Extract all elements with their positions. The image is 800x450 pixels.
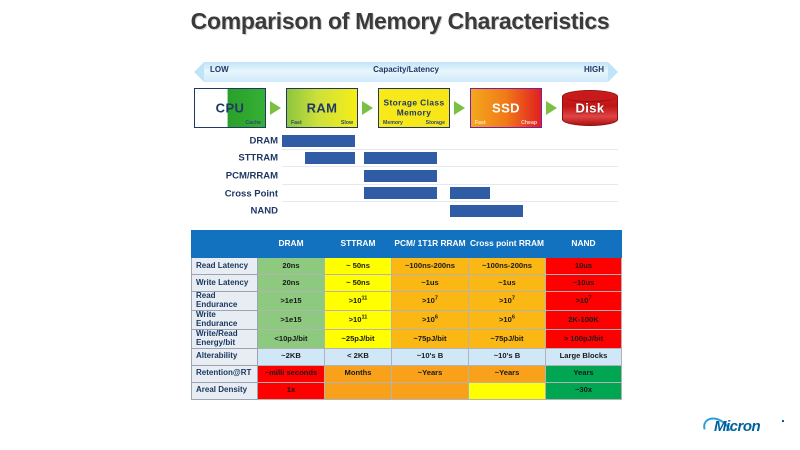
hierarchy-stage-ssd[interactable]: SSD Fast Cheap (470, 88, 542, 128)
table-header-row: DRAM STTRAM PCM/ 1T1R RRAM Cross point R… (192, 231, 622, 258)
cell-retention-rt-dram: ~milli seconds (258, 365, 325, 382)
cell-write-latency-sttram: ~ 50ns (325, 275, 392, 292)
cell-read-endurance-cross-point-rram: >107 (469, 292, 546, 311)
technology-range-chart: DRAM STTRAM PCM/RRAM Cross Point NAND (194, 132, 618, 220)
column-header-sttram: STTRAM (325, 231, 392, 258)
range-label-sttram: STTRAM (194, 153, 278, 164)
range-bar (450, 205, 523, 217)
column-header-dram: DRAM (258, 231, 325, 258)
table-body: Read Latency20ns~ 50ns~100ns-200ns~100ns… (192, 258, 622, 400)
row-header-alterability: Alterability (192, 348, 258, 365)
cell-write-read-energy-bit-dram: <10pJ/bit (258, 329, 325, 348)
column-header-nand: NAND (546, 231, 622, 258)
cell-retention-rt-nand: Years (546, 365, 622, 382)
micron-wordmark: Micron (714, 418, 760, 435)
chevron-right-icon-3 (454, 101, 465, 115)
cell-read-endurance-nand: >107 (546, 292, 622, 311)
range-bar (364, 187, 437, 199)
cell-write-endurance-pcm-1t1r-rram: >106 (392, 310, 469, 329)
cell-read-endurance-sttram: >1011 (325, 292, 392, 311)
range-row-pcm-rram: PCM/RRAM (194, 167, 618, 185)
row-header-areal-density: Areal Density (192, 382, 258, 399)
range-track-cross-point (282, 185, 618, 203)
table-row: Read Endurance>1e15>1011>107>107>107 (192, 292, 622, 311)
range-row-cross-point: Cross Point (194, 185, 618, 203)
range-track-sttram (282, 150, 618, 168)
cell-alterability-nand: Large Blocks (546, 348, 622, 365)
page-title: Comparison of Memory Characteristics (0, 8, 800, 35)
stage-label-cpu: CPU (195, 101, 265, 116)
cell-areal-density-cross-point-rram (469, 382, 546, 399)
row-header-write-latency: Write Latency (192, 275, 258, 292)
range-bar (450, 187, 490, 199)
cell-alterability-pcm-1t1r-rram: ~10's B (392, 348, 469, 365)
hierarchy-stage-disk[interactable]: Disk (562, 88, 618, 128)
range-bar (282, 135, 355, 147)
cell-retention-rt-sttram: Months (325, 365, 392, 382)
range-bar (364, 170, 437, 182)
cell-alterability-sttram: < 2KB (325, 348, 392, 365)
stage-sublabel-ssd-right: Cheap (521, 120, 537, 126)
stage-label-disk: Disk (562, 101, 618, 116)
spectrum-axis-label: Capacity/Latency (194, 65, 618, 74)
range-row-nand: NAND (194, 202, 618, 220)
row-header-write-endurance: Write Endurance (192, 310, 258, 329)
hierarchy-stage-cpu[interactable]: CPU Cache (194, 88, 266, 128)
cell-read-latency-pcm-1t1r-rram: ~100ns-200ns (392, 258, 469, 275)
range-bar (305, 152, 355, 164)
memory-comparison-table: DRAM STTRAM PCM/ 1T1R RRAM Cross point R… (191, 230, 622, 400)
range-track-pcm-rram (282, 167, 618, 185)
row-header-write-read-energy-bit: Write/Read Energy/bit (192, 329, 258, 348)
cell-retention-rt-pcm-1t1r-rram: ~Years (392, 365, 469, 382)
cell-read-endurance-pcm-1t1r-rram: >107 (392, 292, 469, 311)
table-corner-cell (192, 231, 258, 258)
range-row-sttram: STTRAM (194, 150, 618, 168)
range-label-dram: DRAM (194, 135, 278, 146)
cell-write-latency-pcm-1t1r-rram: ~1us (392, 275, 469, 292)
cell-alterability-dram: ~2KB (258, 348, 325, 365)
table-row: Write Endurance>1e15>1011>106>1062K-100K (192, 310, 622, 329)
table-row: Areal Density1x~30x (192, 382, 622, 399)
table-row: Read Latency20ns~ 50ns~100ns-200ns~100ns… (192, 258, 622, 275)
cell-alterability-cross-point-rram: ~10's B (469, 348, 546, 365)
hierarchy-stage-storage-class-memory[interactable]: Storage Class Memory Memory Storage (378, 88, 450, 128)
stage-sublabel-cpu-right: Cache (245, 120, 261, 126)
cell-write-endurance-cross-point-rram: >106 (469, 310, 546, 329)
memory-hierarchy-diagram: CPU Cache RAM Fast Slow Storage Class Me… (194, 88, 618, 128)
stage-label-ram: RAM (287, 101, 357, 116)
cell-read-latency-nand: 10us (546, 258, 622, 275)
range-track-nand (282, 202, 618, 220)
chevron-right-icon-1 (270, 101, 281, 115)
cell-areal-density-nand: ~30x (546, 382, 622, 399)
column-header-cross-point: Cross point RRAM (469, 231, 546, 258)
table-row: Write Latency20ns~ 50ns~1us~1us~10us (192, 275, 622, 292)
hierarchy-stage-ram[interactable]: RAM Fast Slow (286, 88, 358, 128)
cell-write-endurance-sttram: >1011 (325, 310, 392, 329)
range-label-cross-point: Cross Point (194, 188, 278, 199)
cell-areal-density-pcm-1t1r-rram (392, 382, 469, 399)
stage-sublabel-ssd-left: Fast (475, 120, 486, 126)
cell-write-read-energy-bit-cross-point-rram: ~75pJ/bit (469, 329, 546, 348)
cell-read-latency-cross-point-rram: ~100ns-200ns (469, 258, 546, 275)
micron-logo: Micron (698, 416, 784, 442)
cell-write-latency-nand: ~10us (546, 275, 622, 292)
range-track-dram (282, 132, 618, 150)
cell-write-read-energy-bit-sttram: ~25pJ/bit (325, 329, 392, 348)
trademark-dot-icon (782, 420, 784, 422)
stage-label-scm: Storage Class Memory (379, 98, 449, 117)
chevron-right-icon-2 (362, 101, 373, 115)
range-bar (364, 152, 437, 164)
row-header-read-latency: Read Latency (192, 258, 258, 275)
spectrum-high-label: HIGH (584, 65, 604, 74)
row-header-retention-rt: Retention@RT (192, 365, 258, 382)
cell-write-read-energy-bit-nand: > 100pJ/bit (546, 329, 622, 348)
cell-read-latency-dram: 20ns (258, 258, 325, 275)
range-label-pcm-rram: PCM/RRAM (194, 170, 278, 181)
cell-retention-rt-cross-point-rram: ~Years (469, 365, 546, 382)
cell-read-latency-sttram: ~ 50ns (325, 258, 392, 275)
range-label-nand: NAND (194, 206, 278, 217)
cell-write-latency-cross-point-rram: ~1us (469, 275, 546, 292)
stage-label-ssd: SSD (471, 101, 541, 116)
cell-write-read-energy-bit-pcm-1t1r-rram: ~75pJ/bit (392, 329, 469, 348)
cell-areal-density-sttram (325, 382, 392, 399)
column-header-pcm-rram: PCM/ 1T1R RRAM (392, 231, 469, 258)
table-row: Write/Read Energy/bit<10pJ/bit~25pJ/bit~… (192, 329, 622, 348)
cell-write-endurance-nand: 2K-100K (546, 310, 622, 329)
stage-sublabel-scm-right: Storage (426, 120, 445, 126)
row-header-read-endurance: Read Endurance (192, 292, 258, 311)
cell-write-endurance-dram: >1e15 (258, 310, 325, 329)
cell-read-endurance-dram: >1e15 (258, 292, 325, 311)
cell-areal-density-dram: 1x (258, 382, 325, 399)
table-row: Retention@RT~milli secondsMonths~Years~Y… (192, 365, 622, 382)
table-row: Alterability~2KB< 2KB~10's B~10's BLarge… (192, 348, 622, 365)
stage-sublabel-ram-right: Slow (341, 120, 353, 126)
chevron-right-icon-4 (546, 101, 557, 115)
capacity-latency-arrow: LOW Capacity/Latency HIGH (194, 62, 618, 82)
cell-write-latency-dram: 20ns (258, 275, 325, 292)
stage-sublabel-scm-left: Memory (383, 120, 403, 126)
stage-sublabel-ram-left: Fast (291, 120, 302, 126)
range-row-dram: DRAM (194, 132, 618, 150)
